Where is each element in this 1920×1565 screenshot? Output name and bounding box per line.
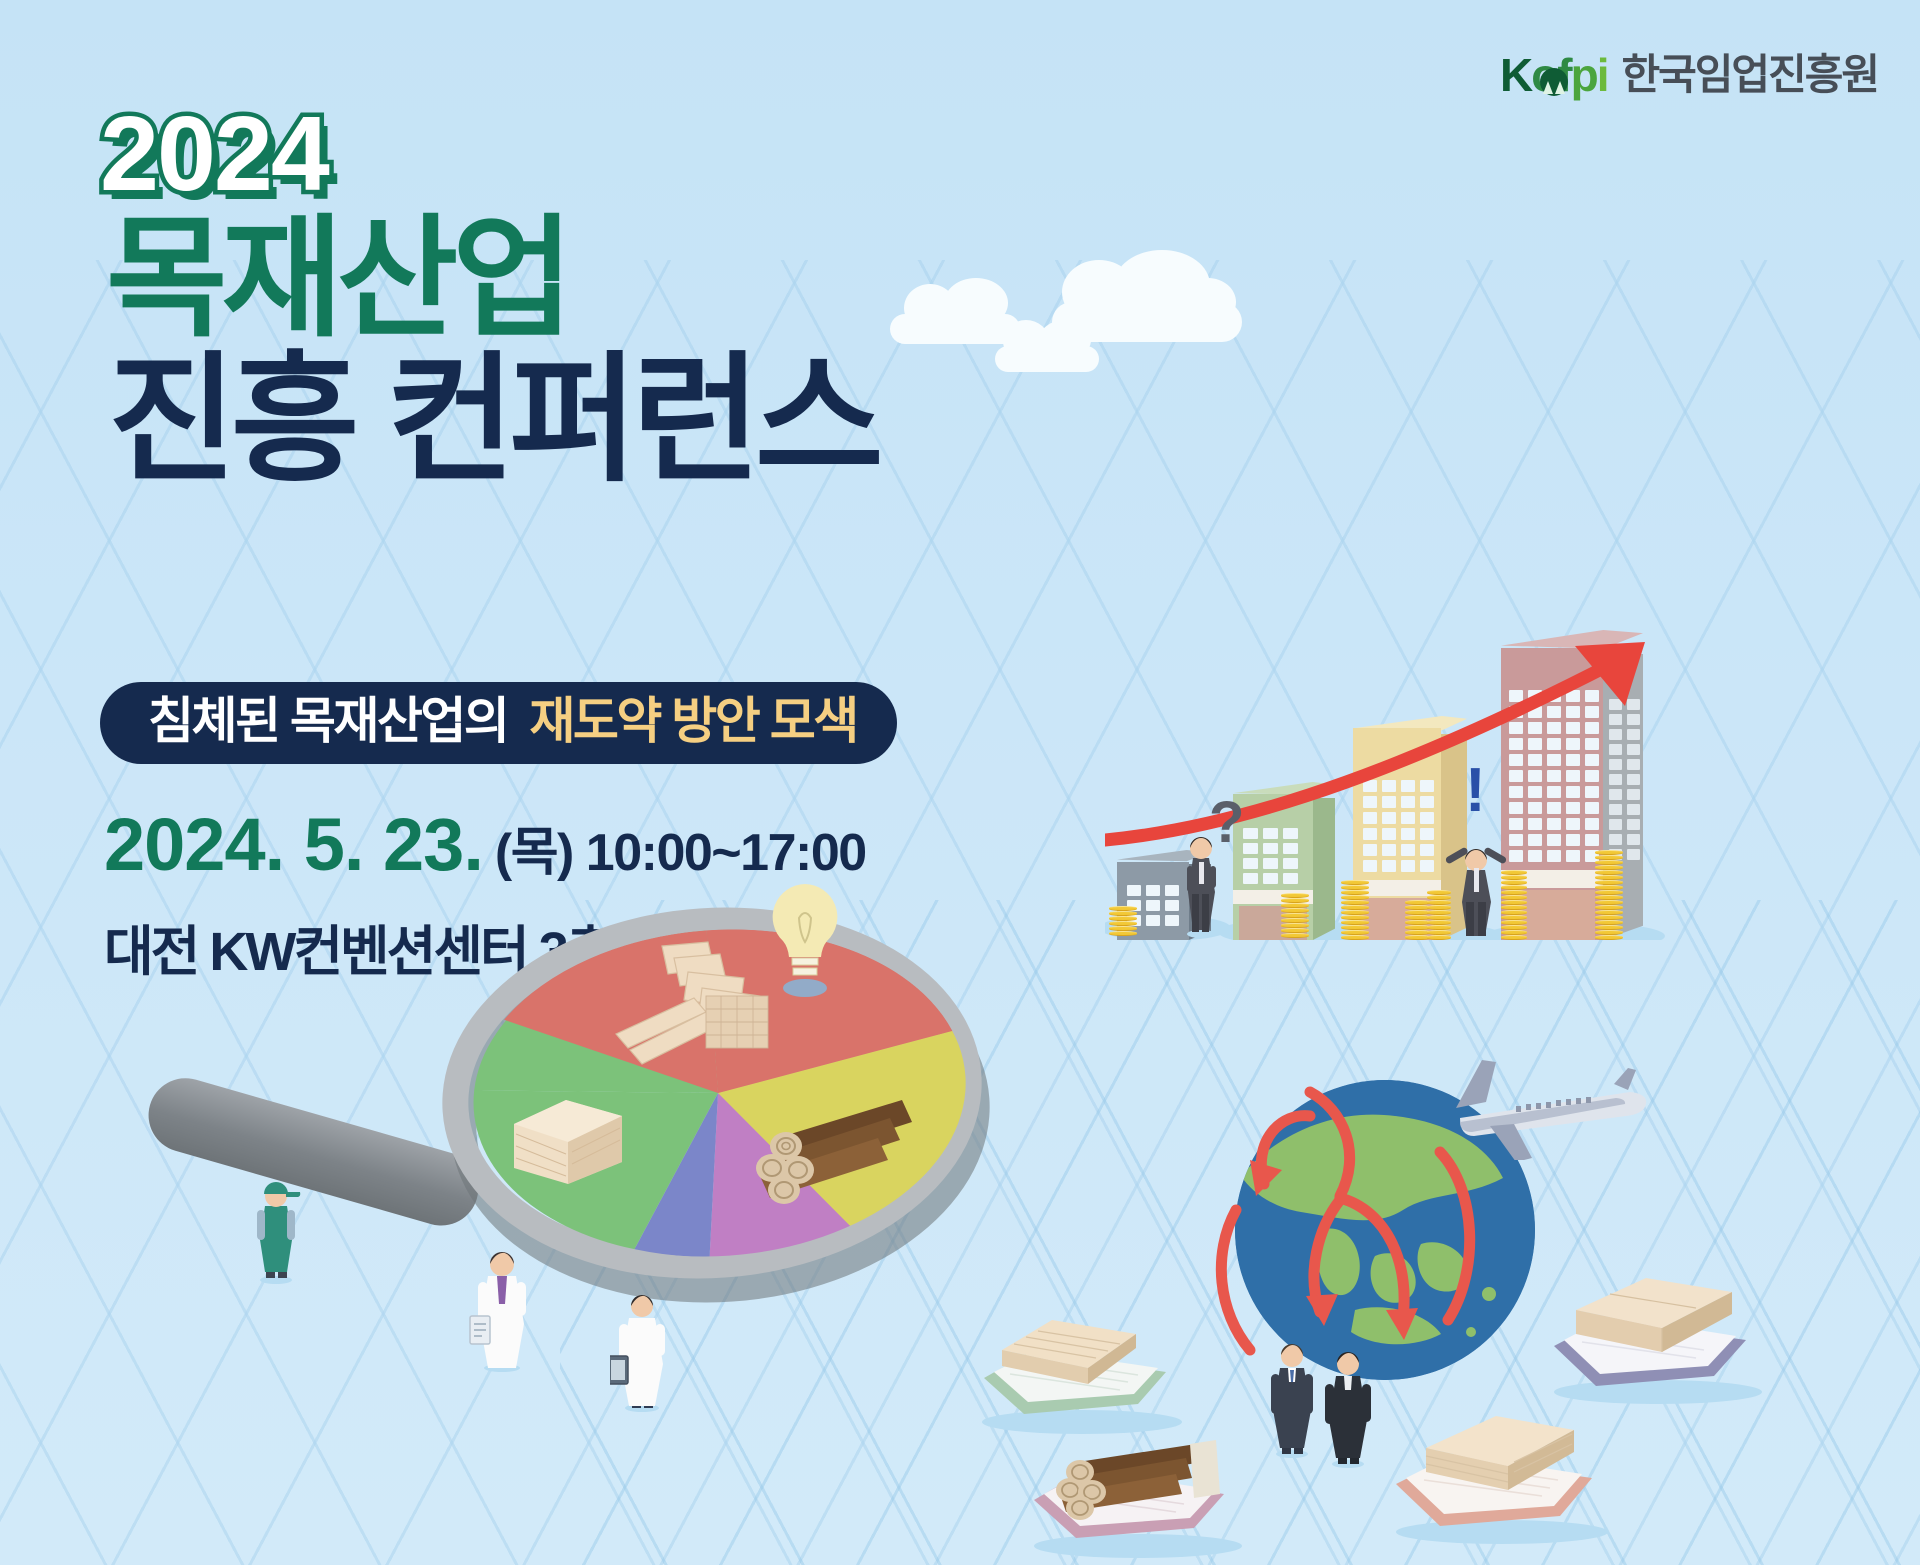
logo-letter-p: p bbox=[1571, 52, 1597, 98]
headline-line-2: 진흥 컨퍼런스 bbox=[108, 349, 878, 492]
headline-line-1: 목재산업 bbox=[106, 210, 878, 347]
light-bulb-icon bbox=[762, 876, 848, 1000]
boat-planks-peach bbox=[1378, 1386, 1628, 1546]
businessman-handshake-right bbox=[1320, 1342, 1376, 1468]
schedule-date-row: 2024. 5. 23. (목) 10:00~17:00 bbox=[104, 808, 866, 882]
conference-poster: K of p i 한국임업진흥원 2024 목재산업 진흥 컨퍼런스 침체된 목… bbox=[0, 0, 1920, 1565]
growth-chart-illustration: ? ! bbox=[1105, 640, 1665, 940]
exclamation-mark-icon: ! bbox=[1465, 760, 1486, 822]
headline-block: 2024 목재산업 진흥 컨퍼런스 bbox=[100, 106, 878, 492]
kofpi-wordmark: K of p i bbox=[1500, 52, 1608, 98]
subtitle-pill: 침체된 목재산업의 재도약 방안 모색 bbox=[100, 682, 897, 764]
logo-letter-i: i bbox=[1597, 52, 1608, 98]
researcher-with-tablet bbox=[610, 1284, 674, 1412]
businessman-handshake-left bbox=[1264, 1334, 1320, 1458]
businessman-cheering bbox=[1443, 836, 1509, 940]
log-bundle bbox=[746, 1086, 916, 1206]
boat-logs-pink bbox=[1020, 1400, 1260, 1560]
boat-board-purple bbox=[1534, 1256, 1784, 1406]
two-trees-icon bbox=[1540, 68, 1568, 96]
worker-with-cap bbox=[248, 1172, 304, 1284]
globe-trade-illustration bbox=[1020, 1080, 1780, 1520]
cargo-airplane bbox=[1420, 1040, 1650, 1160]
event-date: 2024. 5. 23. bbox=[104, 808, 483, 882]
kofpi-logo: K of p i 한국임업진흥원 bbox=[1500, 52, 1878, 98]
headline-year: 2024 bbox=[100, 106, 878, 204]
subtitle-text-highlight: 재도약 방안 모색 bbox=[529, 696, 856, 746]
logo-letter-k: K bbox=[1500, 52, 1531, 98]
magnifier-pie-illustration bbox=[150, 880, 920, 1440]
researcher-with-clipboard bbox=[468, 1240, 536, 1372]
question-mark-icon: ? bbox=[1209, 794, 1244, 852]
magnifier-handle bbox=[140, 1069, 487, 1234]
subtitle-text-primary: 침체된 목재산업의 bbox=[148, 696, 507, 746]
cloud-icon-3 bbox=[995, 318, 1099, 372]
logo-organization-name: 한국임업진흥원 bbox=[1622, 54, 1878, 96]
event-day-time: (목) 10:00~17:00 bbox=[495, 827, 866, 879]
lumber-stack bbox=[508, 1076, 628, 1184]
